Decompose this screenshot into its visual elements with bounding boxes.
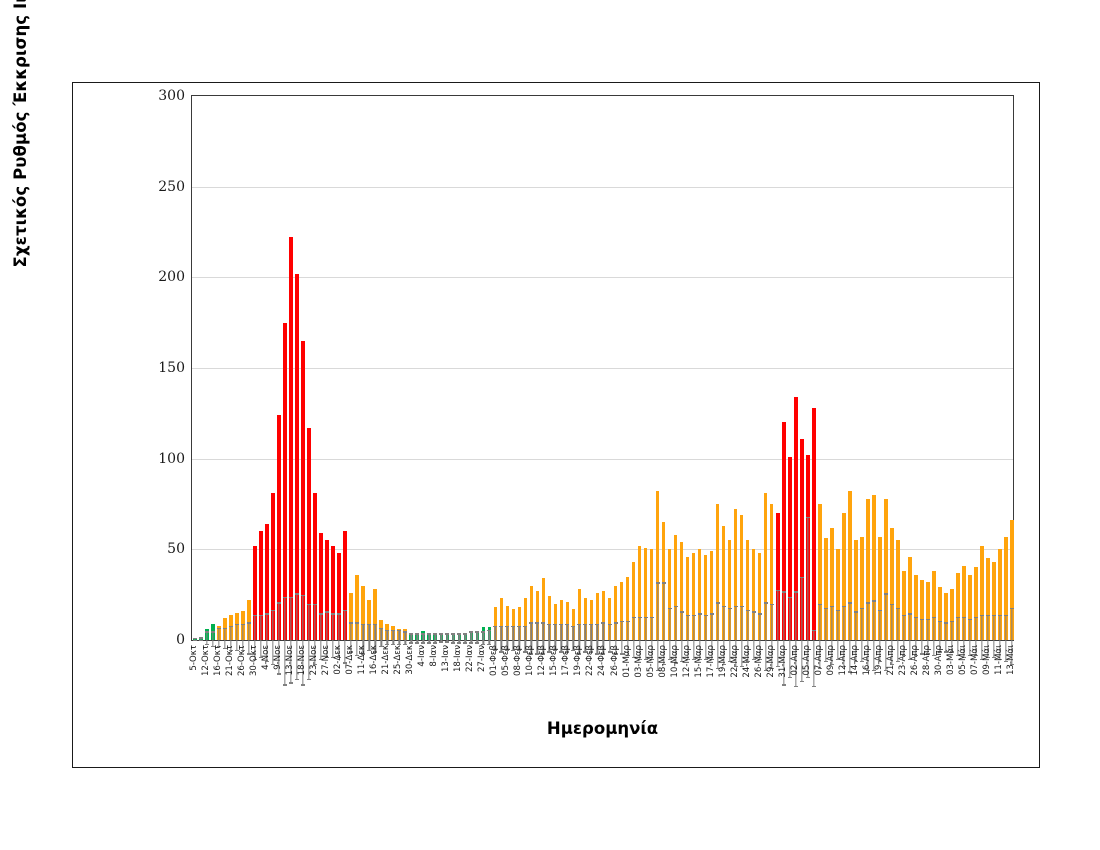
bar xyxy=(427,633,431,640)
bar xyxy=(758,553,762,640)
bar xyxy=(247,600,251,640)
error-bar-cap-upper xyxy=(487,630,491,631)
error-bar-cap-upper xyxy=(872,600,876,601)
bar xyxy=(578,589,582,640)
bar xyxy=(926,582,930,640)
x-axis-tick-label: 18-Νοε xyxy=(297,645,307,675)
chart-figure: Σχετικός Ρυθμός Έκκρισης Ιικού Φορτίου 0… xyxy=(72,82,1040,768)
error-bar-cap-upper xyxy=(559,624,563,625)
bar xyxy=(776,513,780,640)
bar xyxy=(878,537,882,640)
x-axis-tick-label: 12-Απρ xyxy=(838,645,848,676)
bar xyxy=(331,546,335,640)
bar xyxy=(806,455,810,640)
error-bar-cap-upper xyxy=(908,613,912,614)
bar xyxy=(944,593,948,640)
y-axis-tick-label: 300 xyxy=(158,88,185,104)
bar xyxy=(1010,520,1014,640)
x-axis-tick-label: 30-Δεκ xyxy=(405,645,415,675)
bar xyxy=(403,629,407,640)
error-bar-cap-upper xyxy=(992,615,996,616)
x-axis-tick-label: 08-Μαρ xyxy=(658,645,668,678)
bar xyxy=(734,509,738,640)
x-axis-tick-label: 16-Δεκ xyxy=(369,645,379,675)
y-axis-tick-label: 250 xyxy=(158,179,185,195)
error-bar-cap-upper xyxy=(493,626,497,627)
error-bar-cap-upper xyxy=(896,608,900,609)
error-bar-cap-upper xyxy=(319,613,323,614)
bar xyxy=(992,562,996,640)
error-bar-cap-upper xyxy=(626,621,630,622)
y-axis-tick-label: 100 xyxy=(158,451,185,467)
bar xyxy=(211,624,215,640)
bar xyxy=(289,237,293,640)
x-axis-tick-label: 01-Μαρ xyxy=(622,645,632,678)
bar xyxy=(620,582,624,640)
error-bar-cap-upper xyxy=(800,577,804,578)
bar xyxy=(355,575,359,640)
x-axis-tick-label: 22-Φεβ xyxy=(585,645,595,676)
bar xyxy=(391,626,395,641)
error-bar-cap-upper xyxy=(535,622,539,623)
error-bar-cap-upper xyxy=(980,615,984,616)
x-axis-tick-label: 11-Μάι xyxy=(994,645,1004,675)
bar xyxy=(259,531,263,640)
error-bar-cap-upper xyxy=(794,591,798,592)
error-bar-cap-upper xyxy=(529,622,533,623)
y-axis-tick-label: 150 xyxy=(158,360,185,376)
bar xyxy=(512,609,516,640)
error-bar-cap-upper xyxy=(644,617,648,618)
error-bar-cap-upper xyxy=(241,624,245,625)
error-bar-cap-upper xyxy=(812,630,816,631)
bar xyxy=(872,495,876,640)
error-bar-cap-lower xyxy=(199,640,203,641)
bar xyxy=(464,633,468,640)
bar xyxy=(241,611,245,640)
bar xyxy=(415,633,419,640)
bar xyxy=(752,549,756,640)
y-axis-tick-label: 200 xyxy=(158,269,185,285)
error-bar-cap-upper xyxy=(632,617,636,618)
x-axis-tick-label: 05-Φεβ xyxy=(501,645,511,676)
error-bar-cap-upper xyxy=(716,602,720,603)
bar xyxy=(908,557,912,640)
bar xyxy=(253,546,257,640)
error-bar-cap-upper xyxy=(764,602,768,603)
error-bar-cap-upper xyxy=(950,621,954,622)
bar xyxy=(367,600,371,640)
error-bar-cap-upper xyxy=(674,606,678,607)
bar xyxy=(722,526,726,640)
y-axis-title: Σχετικός Ρυθμός Έκκρισης Ιικού Φορτίου xyxy=(11,0,39,283)
bar xyxy=(998,549,1002,640)
bar xyxy=(566,602,570,640)
error-bar-cap-upper xyxy=(752,611,756,612)
error-bar-cap-upper xyxy=(932,617,936,618)
error-bar-cap-upper xyxy=(259,615,263,616)
bar xyxy=(440,635,444,640)
error-bar-cap-upper xyxy=(686,615,690,616)
bar xyxy=(884,499,888,640)
x-axis-tick-label: 16-Απρ xyxy=(862,645,872,676)
bar xyxy=(608,598,612,640)
bar xyxy=(980,546,984,640)
error-bar-cap-upper xyxy=(283,597,287,598)
bar xyxy=(974,567,978,640)
x-axis-tick-label: 15-Φεβ xyxy=(549,645,559,676)
bar xyxy=(482,627,486,640)
x-axis-tick-label: 29-Μαρ xyxy=(766,645,776,678)
error-bar-cap-upper xyxy=(710,613,714,614)
x-axis-tick-label: 12-Οκτ xyxy=(201,645,211,676)
bar xyxy=(301,341,305,640)
bar xyxy=(476,631,480,640)
error-bar-cap-upper xyxy=(890,604,894,605)
error-bar-cap-upper xyxy=(884,593,888,594)
x-axis-tick-label: 19-Φεβ xyxy=(573,645,583,676)
x-axis-tick-label: 14-Απρ xyxy=(850,645,860,676)
bar xyxy=(656,491,660,640)
bar xyxy=(446,635,450,640)
x-axis-tick-label: 30-Απρ xyxy=(934,645,944,676)
error-bar-cap-upper xyxy=(211,631,215,632)
x-axis-tick-label: 27-Ιαν xyxy=(477,645,487,672)
error-bar-cap-upper xyxy=(589,624,593,625)
error-bar-cap-upper xyxy=(343,610,347,611)
y-axis-tick-label: 50 xyxy=(167,541,185,557)
x-axis-tick-label: 19-Απρ xyxy=(874,645,884,676)
error-bar-cap-upper xyxy=(385,630,389,631)
bar xyxy=(902,571,906,640)
bar xyxy=(199,638,203,640)
error-bar-cap-upper xyxy=(253,615,257,616)
bar xyxy=(836,549,840,640)
x-axis-tick-label: 21-Οκτ xyxy=(225,645,235,676)
x-axis-tick-label: 15-Μαρ xyxy=(694,645,704,678)
x-axis-tick-label: 12-Μαρ xyxy=(682,645,692,678)
error-bar-cap-upper xyxy=(974,617,978,618)
error-bar-cap-upper xyxy=(373,624,377,625)
x-axis-tick-label: 02-Απρ xyxy=(790,645,800,676)
error-bar-cap-upper xyxy=(553,624,557,625)
error-bar-cap-upper xyxy=(475,631,479,632)
bar xyxy=(470,633,474,640)
bar xyxy=(319,533,323,640)
x-axis-tick-label: 13-Μάι xyxy=(1006,645,1016,675)
error-bar-cap-upper xyxy=(638,617,642,618)
error-bar-cap-upper xyxy=(235,624,239,625)
bar xyxy=(632,562,636,640)
error-bar-cap-upper xyxy=(571,626,575,627)
bar xyxy=(824,538,828,640)
error-bar-cap-upper xyxy=(301,595,305,596)
bar xyxy=(938,587,942,640)
x-axis-tick-label: 25-Δεκ xyxy=(393,645,403,675)
bar xyxy=(271,493,275,640)
error-bar-cap-upper xyxy=(842,606,846,607)
x-axis-tick-label: 13-Νοε xyxy=(285,645,295,675)
error-bar-cap-upper xyxy=(379,628,383,629)
error-bar-cap-upper xyxy=(938,621,942,622)
bar xyxy=(452,633,456,640)
bar xyxy=(433,633,437,640)
error-bar-cap-upper xyxy=(848,602,852,603)
bar xyxy=(524,598,528,640)
error-bar-cap-upper xyxy=(782,591,786,592)
bar xyxy=(602,591,606,640)
bar-series xyxy=(192,96,1013,640)
bar xyxy=(229,615,233,640)
x-axis-tick-label: 5-Οκτ xyxy=(189,645,199,671)
bar xyxy=(986,558,990,640)
x-axis-tick-label: 03-Μαρ xyxy=(634,645,644,678)
error-bar-cap-upper xyxy=(289,597,293,598)
x-axis-tick-label: 09-Απρ xyxy=(826,645,836,676)
bar xyxy=(854,540,858,640)
x-axis-tick-label: 12-Φεβ xyxy=(537,645,547,676)
bar xyxy=(596,593,600,640)
x-axis-tick-label: 21-Δεκ xyxy=(381,645,391,675)
x-axis-tick-label: 05-Απρ xyxy=(802,645,812,676)
x-axis-tick-label: 4-Νοε xyxy=(261,645,271,670)
error-bar-cap-upper xyxy=(247,622,251,623)
error-bar-cap-upper xyxy=(806,517,810,518)
error-bar-cap-upper xyxy=(854,611,858,612)
bar xyxy=(662,522,666,640)
error-bar-cap-upper xyxy=(608,624,612,625)
error-bar-cap-upper xyxy=(511,626,515,627)
bar xyxy=(692,553,696,640)
bar xyxy=(409,633,413,640)
error-bar-cap-upper xyxy=(656,582,660,583)
error-bar-cap-upper xyxy=(217,628,221,629)
x-axis-tick-label: 8-Ιαν xyxy=(429,645,439,667)
error-bar-cap-upper xyxy=(391,630,395,631)
x-axis-tick-label: 08-Φεβ xyxy=(513,645,523,676)
bar xyxy=(782,422,786,640)
bar xyxy=(295,274,299,640)
error-bar-cap-upper xyxy=(427,633,431,634)
x-axis-tick-label: 22-Ιαν xyxy=(465,645,475,672)
error-bar-cap-upper xyxy=(403,631,407,632)
bar xyxy=(764,493,768,640)
bar xyxy=(590,600,594,640)
bar xyxy=(812,408,816,640)
x-axis-tick-label: 26-Φεβ xyxy=(610,645,620,676)
error-bar-cap-upper xyxy=(770,604,774,605)
error-bar-cap-upper xyxy=(421,633,425,634)
bar xyxy=(740,515,744,640)
error-bar-cap-upper xyxy=(277,602,281,603)
x-axis-tick-label: 24-Φεβ xyxy=(597,645,607,676)
x-axis-tick-label: 22-Μαρ xyxy=(730,645,740,678)
x-axis-tick-label: 03-Μάι xyxy=(946,645,956,675)
y-axis-tick-label: 0 xyxy=(176,632,185,648)
error-bar-cap-upper xyxy=(229,626,233,627)
x-axis-tick-label: 07-Απρ xyxy=(814,645,824,676)
bar xyxy=(830,528,834,640)
error-bar-cap-upper xyxy=(878,610,882,611)
error-bar-cap-upper xyxy=(758,613,762,614)
error-bar-cap-upper xyxy=(541,622,545,623)
error-bar-cap-upper xyxy=(583,624,587,625)
bar xyxy=(680,542,684,640)
error-bar-cap-upper xyxy=(457,633,461,634)
error-bar-cap-upper xyxy=(692,615,696,616)
error-bar-cap-upper xyxy=(728,608,732,609)
bar xyxy=(650,549,654,640)
bar xyxy=(842,513,846,640)
bar xyxy=(710,551,714,640)
error-bar-cap-upper xyxy=(650,617,654,618)
x-axis-tick-label: 4-Ιαν xyxy=(417,645,427,667)
bar xyxy=(716,504,720,640)
error-bar-cap-upper xyxy=(986,615,990,616)
bar xyxy=(950,589,954,640)
bar xyxy=(788,457,792,640)
bar xyxy=(235,613,239,640)
error-bar-cap-upper xyxy=(313,604,317,605)
bar xyxy=(325,540,329,640)
error-bar-cap-upper xyxy=(199,637,203,638)
x-axis-tick-label: 26-Μαρ xyxy=(754,645,764,678)
error-bar-cap-upper xyxy=(463,633,467,634)
bar xyxy=(361,586,365,640)
error-bar-cap-upper xyxy=(601,622,605,623)
error-bar-cap-lower xyxy=(193,640,197,641)
x-axis-tick-label: 9-Νοε xyxy=(273,645,283,670)
error-bar-cap-upper xyxy=(962,617,966,618)
error-bar-cap-upper xyxy=(620,621,624,622)
error-bar-cap-upper xyxy=(746,610,750,611)
error-bar-cap-upper xyxy=(565,624,569,625)
bar xyxy=(500,598,504,640)
error-bar-cap-upper xyxy=(325,611,329,612)
bar xyxy=(704,555,708,640)
error-bar-cap-upper xyxy=(830,606,834,607)
bar xyxy=(494,607,498,640)
bar xyxy=(349,593,353,640)
error-bar-cap-upper xyxy=(836,610,840,611)
x-axis-title: Ημερομηνία xyxy=(191,719,1014,738)
error-bar-cap-upper xyxy=(614,622,618,623)
error-bar-cap-upper xyxy=(355,622,359,623)
bar xyxy=(644,548,648,640)
bar xyxy=(307,428,311,640)
error-bar-cap-upper xyxy=(433,633,437,634)
error-bar-cap-upper xyxy=(361,624,365,625)
error-bar-cap-upper xyxy=(577,624,581,625)
x-axis-tick-label: 26-Απρ xyxy=(910,645,920,676)
bar xyxy=(458,633,462,640)
error-bar-cap-upper xyxy=(914,617,918,618)
bar xyxy=(848,491,852,640)
error-bar-cap-upper xyxy=(680,611,684,612)
bar xyxy=(277,415,281,640)
bar-group xyxy=(1009,96,1015,640)
bar xyxy=(914,575,918,640)
x-axis-tick-label: 16-Οκτ xyxy=(213,645,223,676)
x-axis-tick-label: 07-Μάι xyxy=(970,645,980,675)
error-bar-cap-upper xyxy=(698,613,702,614)
bar xyxy=(746,540,750,640)
x-axis-tick-label: 31-Μαρ xyxy=(778,645,788,678)
bar xyxy=(518,607,522,640)
bar xyxy=(818,504,822,640)
x-axis-tick-label: 10-Μαρ xyxy=(670,645,680,678)
x-axis-tick-label: 01-Φεβ xyxy=(489,645,499,676)
error-bar-cap-upper xyxy=(722,606,726,607)
bar xyxy=(896,540,900,640)
bar xyxy=(223,618,227,640)
bar xyxy=(421,631,425,640)
bar xyxy=(397,629,401,640)
error-bar-cap-upper xyxy=(223,628,227,629)
bar xyxy=(205,629,209,640)
error-bar-cap-upper xyxy=(409,633,413,634)
bar xyxy=(962,566,966,640)
bar xyxy=(698,549,702,640)
error-bar-cap-upper xyxy=(824,608,828,609)
x-axis-tick-label: 18-Ιαν xyxy=(453,645,463,672)
bar xyxy=(668,549,672,640)
bar xyxy=(860,537,864,640)
x-axis-tick-label: 21-Απρ xyxy=(886,645,896,676)
error-bar-cap-upper xyxy=(920,619,924,620)
bar xyxy=(313,493,317,640)
error-bar-cap-upper xyxy=(866,602,870,603)
error-bar-cap-upper xyxy=(337,613,341,614)
error-bar-cap-upper xyxy=(1010,608,1014,609)
error-bar-cap-upper xyxy=(367,624,371,625)
bar xyxy=(379,620,383,640)
bar xyxy=(890,528,894,640)
bar xyxy=(506,606,510,640)
error-bar-cap-upper xyxy=(956,617,960,618)
x-axis-tick-label: 19-Μαρ xyxy=(718,645,728,678)
error-bar-cap-upper xyxy=(469,631,473,632)
error-bar-cap-upper xyxy=(734,606,738,607)
bar xyxy=(217,626,221,641)
x-axis-tick-label: 17-Μαρ xyxy=(706,645,716,678)
bar xyxy=(542,578,546,640)
bar xyxy=(674,535,678,640)
bar xyxy=(728,540,732,640)
plot-area: 050100150200250300 xyxy=(191,95,1014,641)
error-bar-cap-upper xyxy=(331,613,335,614)
bar xyxy=(956,573,960,640)
error-bar-cap-upper xyxy=(505,626,509,627)
bar xyxy=(626,577,630,640)
x-axis-tick-label: 02-Δεκ xyxy=(333,645,343,675)
error-bar-cap-upper xyxy=(944,622,948,623)
error-bar-cap-upper xyxy=(517,626,521,627)
bar xyxy=(193,638,197,640)
bar xyxy=(866,499,870,640)
x-axis-tick-label: 07-Δεκ xyxy=(345,645,355,675)
bar xyxy=(373,589,377,640)
x-axis-tick-label: 11-Δεκ xyxy=(357,645,367,675)
error-bar-cap-upper xyxy=(349,622,353,623)
bar xyxy=(283,323,287,640)
error-bar-cap-upper xyxy=(415,633,419,634)
bar xyxy=(968,575,972,640)
bar xyxy=(385,624,389,640)
error-bar-cap-upper xyxy=(451,633,455,634)
error-bar-cap-upper xyxy=(902,615,906,616)
error-bar-cap-upper xyxy=(499,626,503,627)
